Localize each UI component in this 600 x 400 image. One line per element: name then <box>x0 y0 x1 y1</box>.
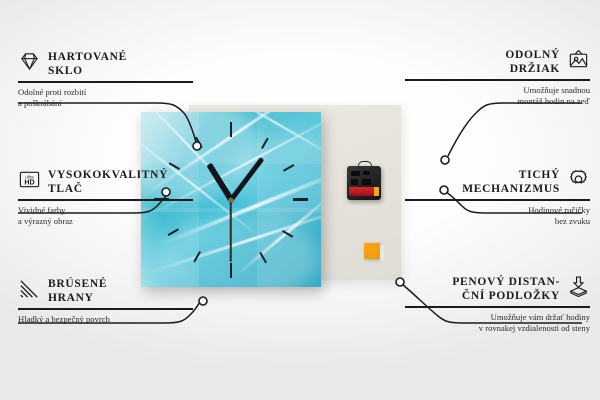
feature-desc-line2: bez zvuku <box>405 216 590 227</box>
hatched-edge-icon <box>18 277 41 300</box>
feature-divider <box>405 79 590 81</box>
feature-desc-line1: Umožňuje vám držať hodiny <box>405 312 590 323</box>
diamond-icon <box>18 50 41 73</box>
feature-title-line2: DRŽIAK <box>505 62 560 76</box>
picture-hanger-icon <box>567 48 590 71</box>
feature-desc-line1: Odolné proti rozbití <box>18 87 193 98</box>
feature-title-line2: ČNÍ PODLOŽKY <box>452 289 560 303</box>
feature-title-line1: TICHÝ <box>462 168 560 182</box>
feature-ground-edges[interactable]: BRÚSENÉ HRANY Hladký a bezpečný povrch <box>18 277 193 325</box>
feature-title-line1: BRÚSENÉ <box>48 277 107 291</box>
feature-divider <box>405 306 590 308</box>
feature-divider <box>18 81 193 83</box>
feature-desc-line1: Umožňuje snadnou <box>405 85 590 96</box>
clock-second-hand <box>230 200 232 262</box>
feature-hardened-glass[interactable]: HARTOVANÉ SKLO Odolné proti rozbití a po… <box>18 50 193 109</box>
feature-desc-line1: Vividné farby <box>18 205 193 216</box>
product-infographic: HARTOVANÉ SKLO Odolné proti rozbití a po… <box>0 0 600 400</box>
feature-title-line2: MECHANIZMUS <box>462 182 560 196</box>
feature-silent-mechanism[interactable]: TICHÝ MECHANIZMUS Hodinové ručičky bez z… <box>405 168 590 227</box>
clock-center-pin <box>229 197 234 202</box>
feature-title-line1: PENOVÝ DISTAN- <box>452 275 560 289</box>
feature-foam-spacers[interactable]: PENOVÝ DISTAN- ČNÍ PODLOŽKY Umožňuje vám… <box>405 275 590 334</box>
feature-desc-line1: Hodinové ručičky <box>405 205 590 216</box>
clock-hour-hand <box>206 162 233 201</box>
feature-title-line1: HARTOVANÉ <box>48 50 127 64</box>
feature-title-line1: VYSOKOKVALITNÝ <box>48 168 168 182</box>
feature-divider <box>18 199 193 201</box>
gear-icon <box>567 168 590 191</box>
foam-spacer-pad <box>364 243 380 259</box>
feature-durable-hanger[interactable]: ODOLNÝ DRŽIAK Umožňuje snadnou montáž ho… <box>405 48 590 107</box>
feature-divider <box>405 199 590 201</box>
feature-title-line2: SKLO <box>48 64 127 78</box>
feature-divider <box>18 308 193 310</box>
feature-title-line1: ODOLNÝ <box>505 48 560 62</box>
feature-high-quality-print[interactable]: ultra HD VYSOKOKVALITNÝ TLAČ Vividné far… <box>18 168 193 227</box>
feature-desc-line2: a výrazný obraz <box>18 216 193 227</box>
clock-movement-mechanism <box>347 166 381 200</box>
clock-minute-hand <box>229 156 264 201</box>
feature-desc-line2: a poškrábání <box>18 98 193 109</box>
feature-desc-line2: v rovnakej vzdialenosti od steny <box>405 323 590 334</box>
feature-desc-line2: montáž hodin na zeď <box>405 96 590 107</box>
movement-battery <box>349 187 379 196</box>
foam-pad-icon <box>567 275 590 298</box>
feature-title-line2: TLAČ <box>48 182 168 196</box>
feature-title-line2: HRANY <box>48 291 107 305</box>
svg-text:HD: HD <box>24 179 34 187</box>
movement-hanger-icon <box>358 161 372 170</box>
ultra-hd-icon: ultra HD <box>18 168 41 191</box>
feature-desc-line1: Hladký a bezpečný povrch <box>18 314 193 325</box>
